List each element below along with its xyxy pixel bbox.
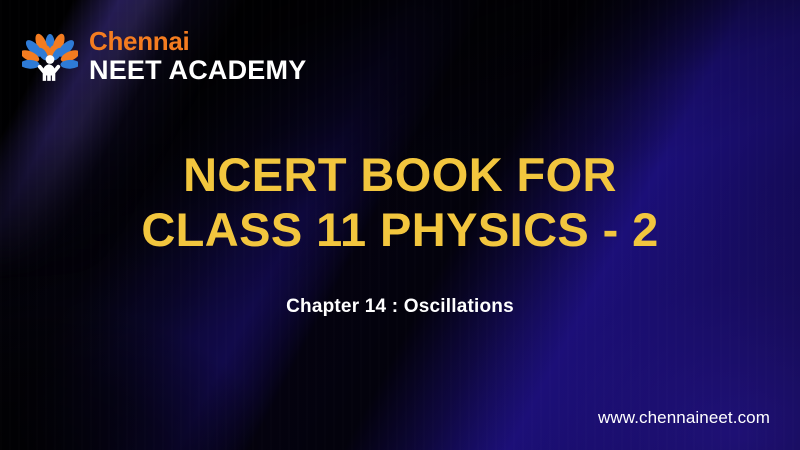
brand-name-neet-academy: NEET ACADEMY (89, 57, 306, 84)
chapter-subtitle: Chapter 14 : Oscillations (0, 296, 800, 318)
page-title: NCERT BOOK FOR CLASS 11 PHYSICS - 2 (0, 148, 800, 257)
slide-canvas: Chennai NEET ACADEMY NCERT BOOK FOR CLAS… (0, 0, 800, 450)
academy-emblem-icon (22, 29, 78, 83)
page-title-line-1: NCERT BOOK FOR (0, 148, 800, 203)
brand-name-chennai: Chennai (89, 28, 306, 54)
page-title-line-2: CLASS 11 PHYSICS - 2 (0, 203, 800, 258)
website-url[interactable]: www.chennaineet.com (598, 408, 770, 428)
brand-logo[interactable]: Chennai NEET ACADEMY (22, 28, 306, 84)
brand-wordmark: Chennai NEET ACADEMY (89, 28, 306, 84)
